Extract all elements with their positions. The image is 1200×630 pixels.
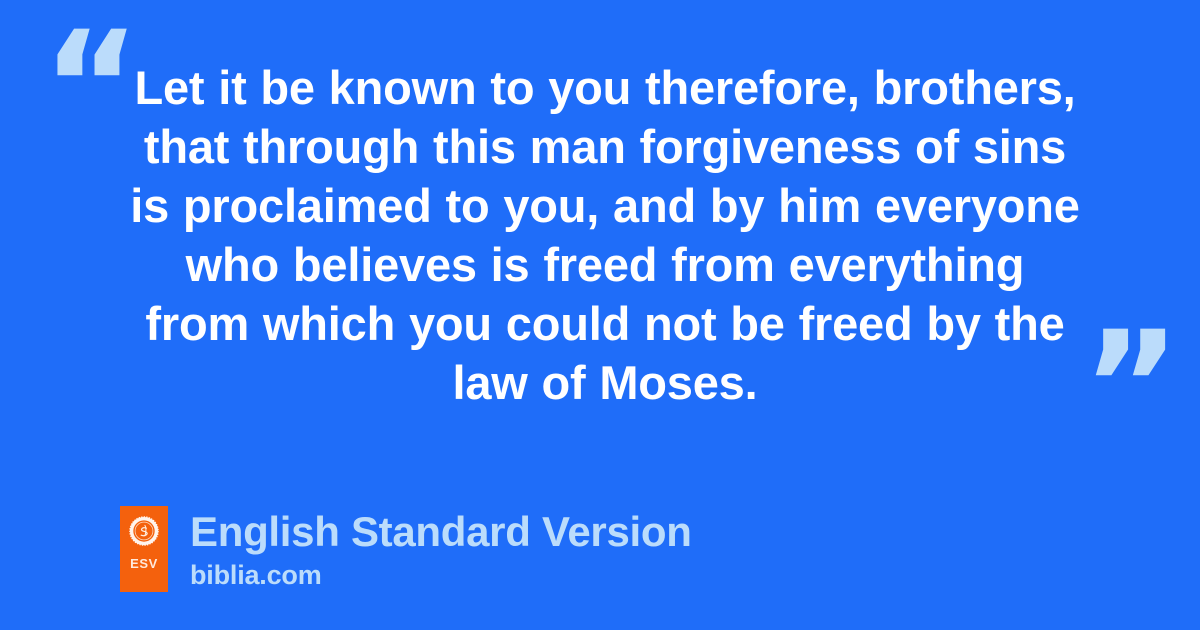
closing-quote-icon: ” <box>1082 312 1181 462</box>
esv-logo: ESV <box>120 506 168 592</box>
attribution-text: English Standard Version biblia.com <box>190 506 692 591</box>
attribution-footer: ESV English Standard Version biblia.com <box>120 506 692 592</box>
site-url: biblia.com <box>190 559 692 591</box>
verse-text: Let it be known to you therefore, brothe… <box>130 58 1080 412</box>
esv-abbreviation: ESV <box>130 557 158 570</box>
esv-seal-icon <box>129 516 159 546</box>
verse-card: “ Let it be known to you therefore, brot… <box>0 0 1200 630</box>
verse-block: Let it be known to you therefore, brothe… <box>130 58 1080 412</box>
bible-version-name: English Standard Version <box>190 508 692 556</box>
opening-quote-icon: “ <box>42 12 141 162</box>
